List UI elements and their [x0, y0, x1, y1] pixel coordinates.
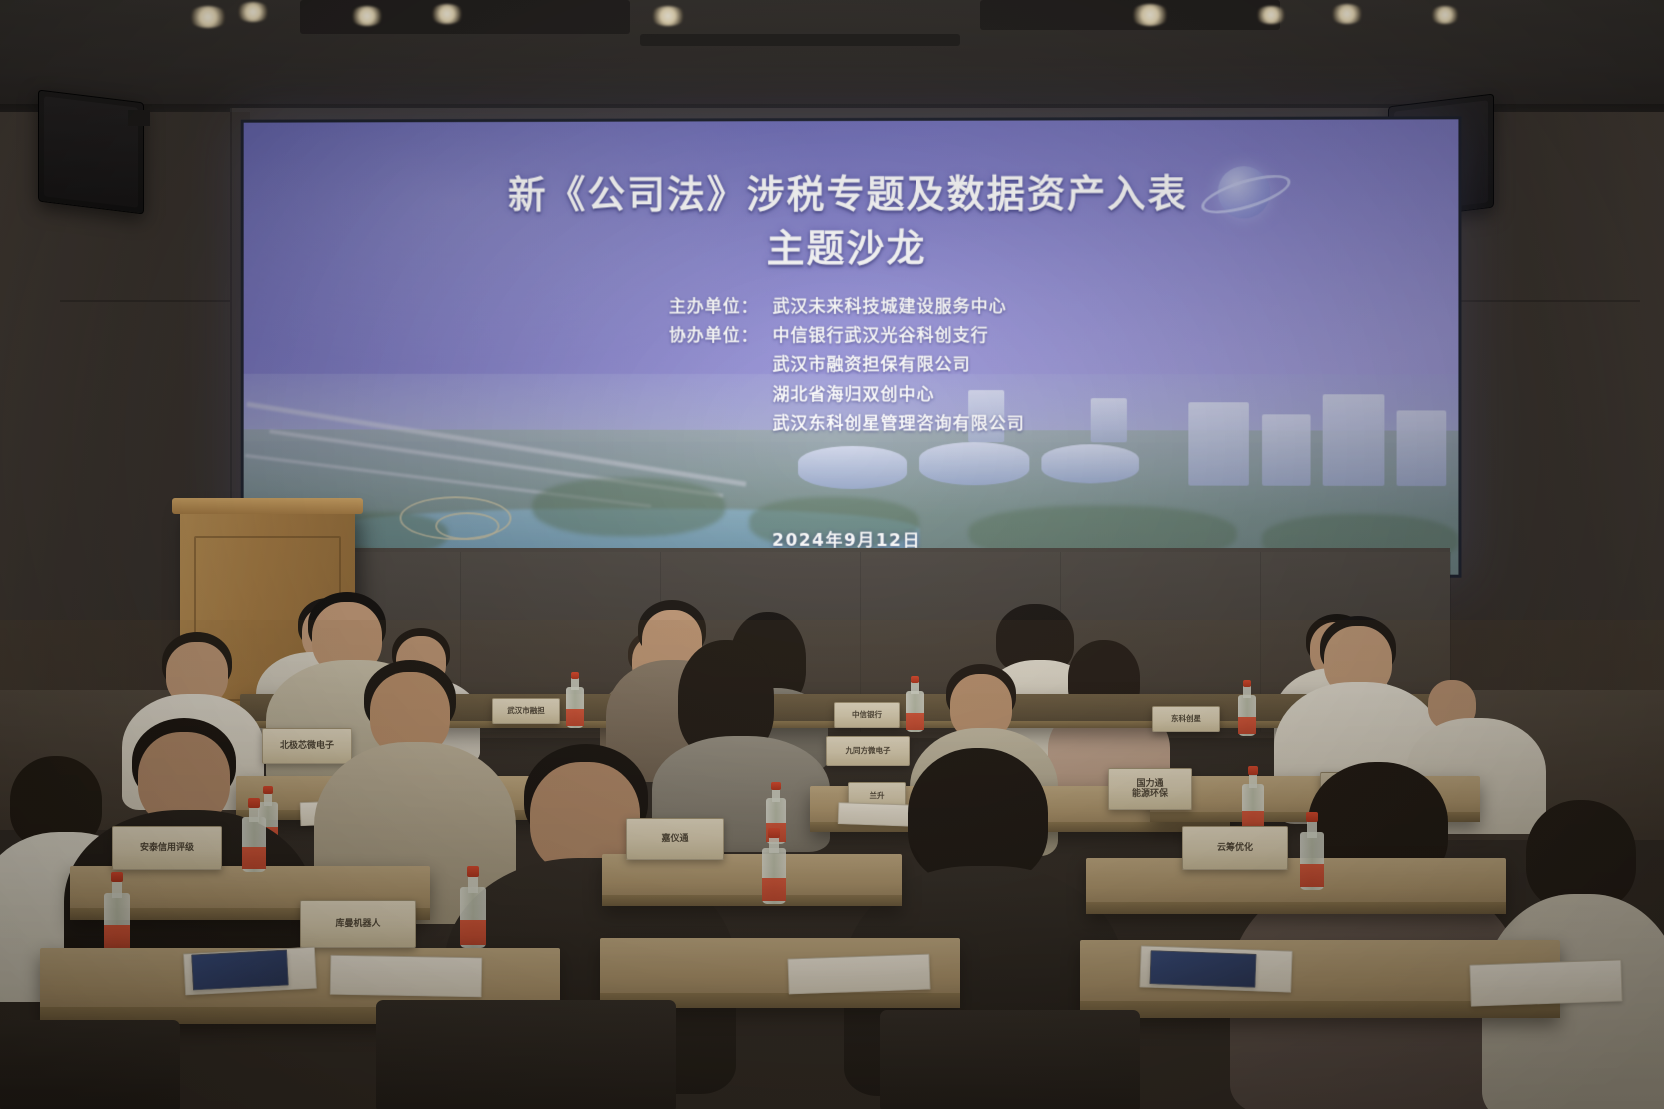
- organizer-row: 协办单位： 中信银行武汉光谷科创支行: [669, 322, 1025, 351]
- document: [787, 954, 930, 995]
- water-bottle: [762, 828, 786, 904]
- organizer-row: 主办单位： 武汉未来科技城建设服务中心: [669, 293, 1025, 322]
- slide-title-line1: 新《公司法》涉税专题及数据资产入表: [508, 166, 1188, 221]
- slide-title-line2: 主题沙龙: [767, 221, 927, 275]
- table-placard: 中信银行: [834, 702, 900, 728]
- table-row: [1086, 858, 1506, 914]
- organizer-value: 武汉未来科技城建设服务中心: [773, 293, 1007, 322]
- chair: [376, 1000, 676, 1109]
- downlight-icon: [236, 2, 270, 22]
- organizer-label: 协办单位：: [669, 322, 773, 351]
- wall-seam: [1440, 300, 1640, 302]
- organizer-value: 湖北省海归双创中心: [773, 381, 935, 410]
- slide-content: 新《公司法》涉税专题及数据资产入表 主题沙龙 主办单位： 武汉未来科技城建设服务…: [244, 119, 1459, 574]
- water-bottle: [1238, 680, 1256, 736]
- water-bottle: [104, 872, 130, 952]
- downlight-icon: [188, 6, 228, 28]
- organizer-row: 武汉市融资担保有限公司: [669, 351, 1025, 380]
- water-bottle: [242, 798, 266, 872]
- document: [330, 955, 483, 998]
- chair: [880, 1010, 1140, 1109]
- downlight-icon: [1430, 6, 1460, 24]
- organizer-label: 主办单位：: [669, 293, 773, 322]
- speaker-mount: [128, 110, 150, 126]
- water-bottle: [460, 866, 486, 948]
- organizer-value: 武汉东科创星管理咨询有限公司: [773, 410, 1025, 439]
- table-placard: 云筹优化: [1182, 826, 1288, 870]
- downlight-icon: [1330, 4, 1364, 24]
- wall-speaker-left: [38, 89, 144, 214]
- water-bottle: [1300, 812, 1324, 890]
- downlight-icon: [650, 6, 686, 26]
- speaker-grille: [44, 96, 138, 208]
- organizer-label: [669, 410, 773, 439]
- table-placard: 库曼机器人: [300, 900, 416, 948]
- table-placard: 国力通 能源环保: [1108, 768, 1192, 810]
- organizer-label: [669, 351, 773, 380]
- conference-photo: 新《公司法》涉税专题及数据资产入表 主题沙龙 主办单位： 武汉未来科技城建设服务…: [0, 0, 1664, 1109]
- organizer-value: 武汉市融资担保有限公司: [773, 351, 971, 380]
- attendee: [1248, 762, 1498, 1102]
- document-cover: [191, 950, 289, 991]
- table-placard: 东科创星: [1152, 706, 1220, 732]
- organizer-label: [669, 381, 773, 410]
- downlight-icon: [1130, 4, 1170, 26]
- chair: [0, 1020, 180, 1109]
- organizer-value: 中信银行武汉光谷科创支行: [773, 322, 989, 351]
- water-bottle: [566, 672, 584, 728]
- table-placard: 安泰信用评级: [112, 826, 222, 870]
- podium-top: [172, 498, 363, 514]
- slide-organizers: 主办单位： 武汉未来科技城建设服务中心 协办单位： 中信银行武汉光谷科创支行 武…: [669, 293, 1025, 439]
- organizer-row: 湖北省海归双创中心: [669, 381, 1025, 410]
- table-placard: 嘉仪通: [626, 818, 724, 860]
- ceiling-slot: [640, 34, 960, 46]
- organizer-row: 武汉东科创星管理咨询有限公司: [669, 410, 1025, 440]
- table-placard: 武汉市融担: [492, 698, 560, 724]
- wall-seam: [60, 300, 230, 302]
- downlight-icon: [430, 4, 464, 24]
- document: [1469, 959, 1622, 1006]
- screen-surface: 新《公司法》涉税专题及数据资产入表 主题沙龙 主办单位： 武汉未来科技城建设服务…: [244, 119, 1459, 574]
- projection-screen: 新《公司法》涉税专题及数据资产入表 主题沙龙 主办单位： 武汉未来科技城建设服务…: [241, 116, 1462, 577]
- table-row: [602, 854, 902, 906]
- downlight-icon: [350, 6, 384, 26]
- downlight-icon: [1255, 6, 1287, 24]
- document-cover: [1149, 950, 1256, 988]
